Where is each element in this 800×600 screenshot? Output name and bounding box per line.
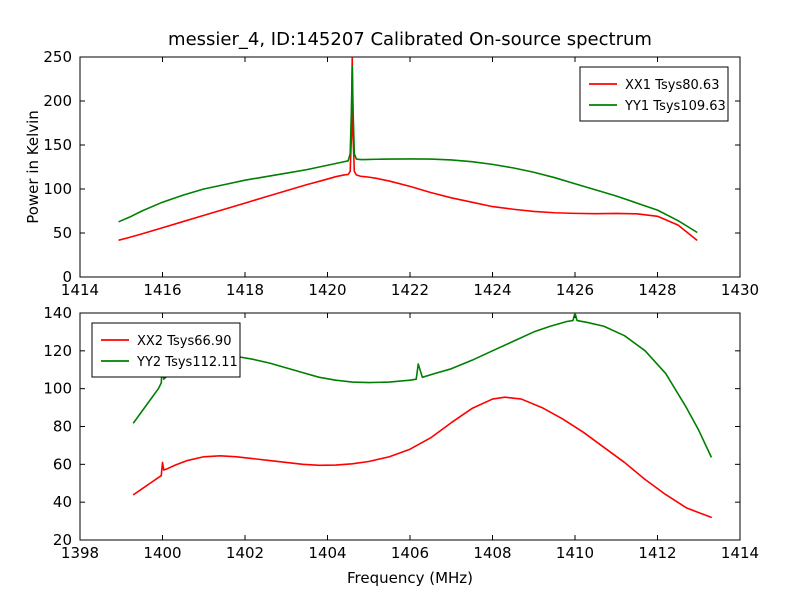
x-axis-label: Frequency (MHz) (347, 569, 473, 587)
x-tick-label: 1430 (721, 281, 759, 299)
x-tick-label: 1418 (226, 281, 264, 299)
y-tick-label: 200 (43, 92, 72, 110)
x-tick-label: 1426 (556, 281, 594, 299)
chart-title: messier_4, ID:145207 Calibrated On-sourc… (168, 29, 652, 50)
x-tick-label: 1420 (308, 281, 346, 299)
x-tick-label: 1416 (143, 281, 181, 299)
x-tick-label: 1402 (226, 544, 264, 562)
panel-top-panel: 1414141614181420142214241426142814300501… (24, 29, 759, 299)
y-tick-label: 140 (43, 304, 72, 322)
x-tick-label: 1404 (308, 544, 346, 562)
x-tick-label: 1406 (391, 544, 429, 562)
x-tick-label: 1424 (473, 281, 511, 299)
legend: XX1 Tsys80.63YY1 Tsys109.63 (580, 67, 728, 121)
y-tick-label: 250 (43, 48, 72, 66)
x-tick-label: 1410 (556, 544, 594, 562)
y-tick-label: 0 (62, 268, 72, 286)
panel-bottom-panel: 1398140014021404140614081410141214142040… (43, 304, 759, 587)
x-tick-label: 1422 (391, 281, 429, 299)
legend-label: XX1 Tsys80.63 (625, 78, 719, 93)
y-tick-label: 20 (53, 531, 72, 549)
y-axis-label: Power in Kelvin (24, 110, 42, 224)
figure-canvas: 1414141614181420142214241426142814300501… (0, 0, 800, 600)
x-tick-label: 1428 (638, 281, 676, 299)
legend: XX2 Tsys66.90YY2 Tsys112.11 (92, 323, 240, 377)
y-tick-label: 100 (43, 380, 72, 398)
spectrum-figure: 1414141614181420142214241426142814300501… (0, 0, 800, 600)
legend-label: YY2 Tsys112.11 (136, 355, 238, 370)
y-tick-label: 50 (53, 224, 72, 242)
x-tick-label: 1414 (721, 544, 759, 562)
legend-label: XX2 Tsys66.90 (137, 334, 231, 349)
y-tick-label: 40 (53, 493, 72, 511)
y-tick-label: 120 (43, 342, 72, 360)
y-tick-label: 100 (43, 180, 72, 198)
series-line-xx2 (134, 397, 712, 517)
x-tick-label: 1400 (143, 544, 181, 562)
x-tick-label: 1408 (473, 544, 511, 562)
y-tick-label: 80 (53, 418, 72, 436)
y-tick-label: 150 (43, 136, 72, 154)
y-tick-label: 60 (53, 455, 72, 473)
x-tick-label: 1412 (638, 544, 676, 562)
legend-label: YY1 Tsys109.63 (624, 99, 726, 114)
